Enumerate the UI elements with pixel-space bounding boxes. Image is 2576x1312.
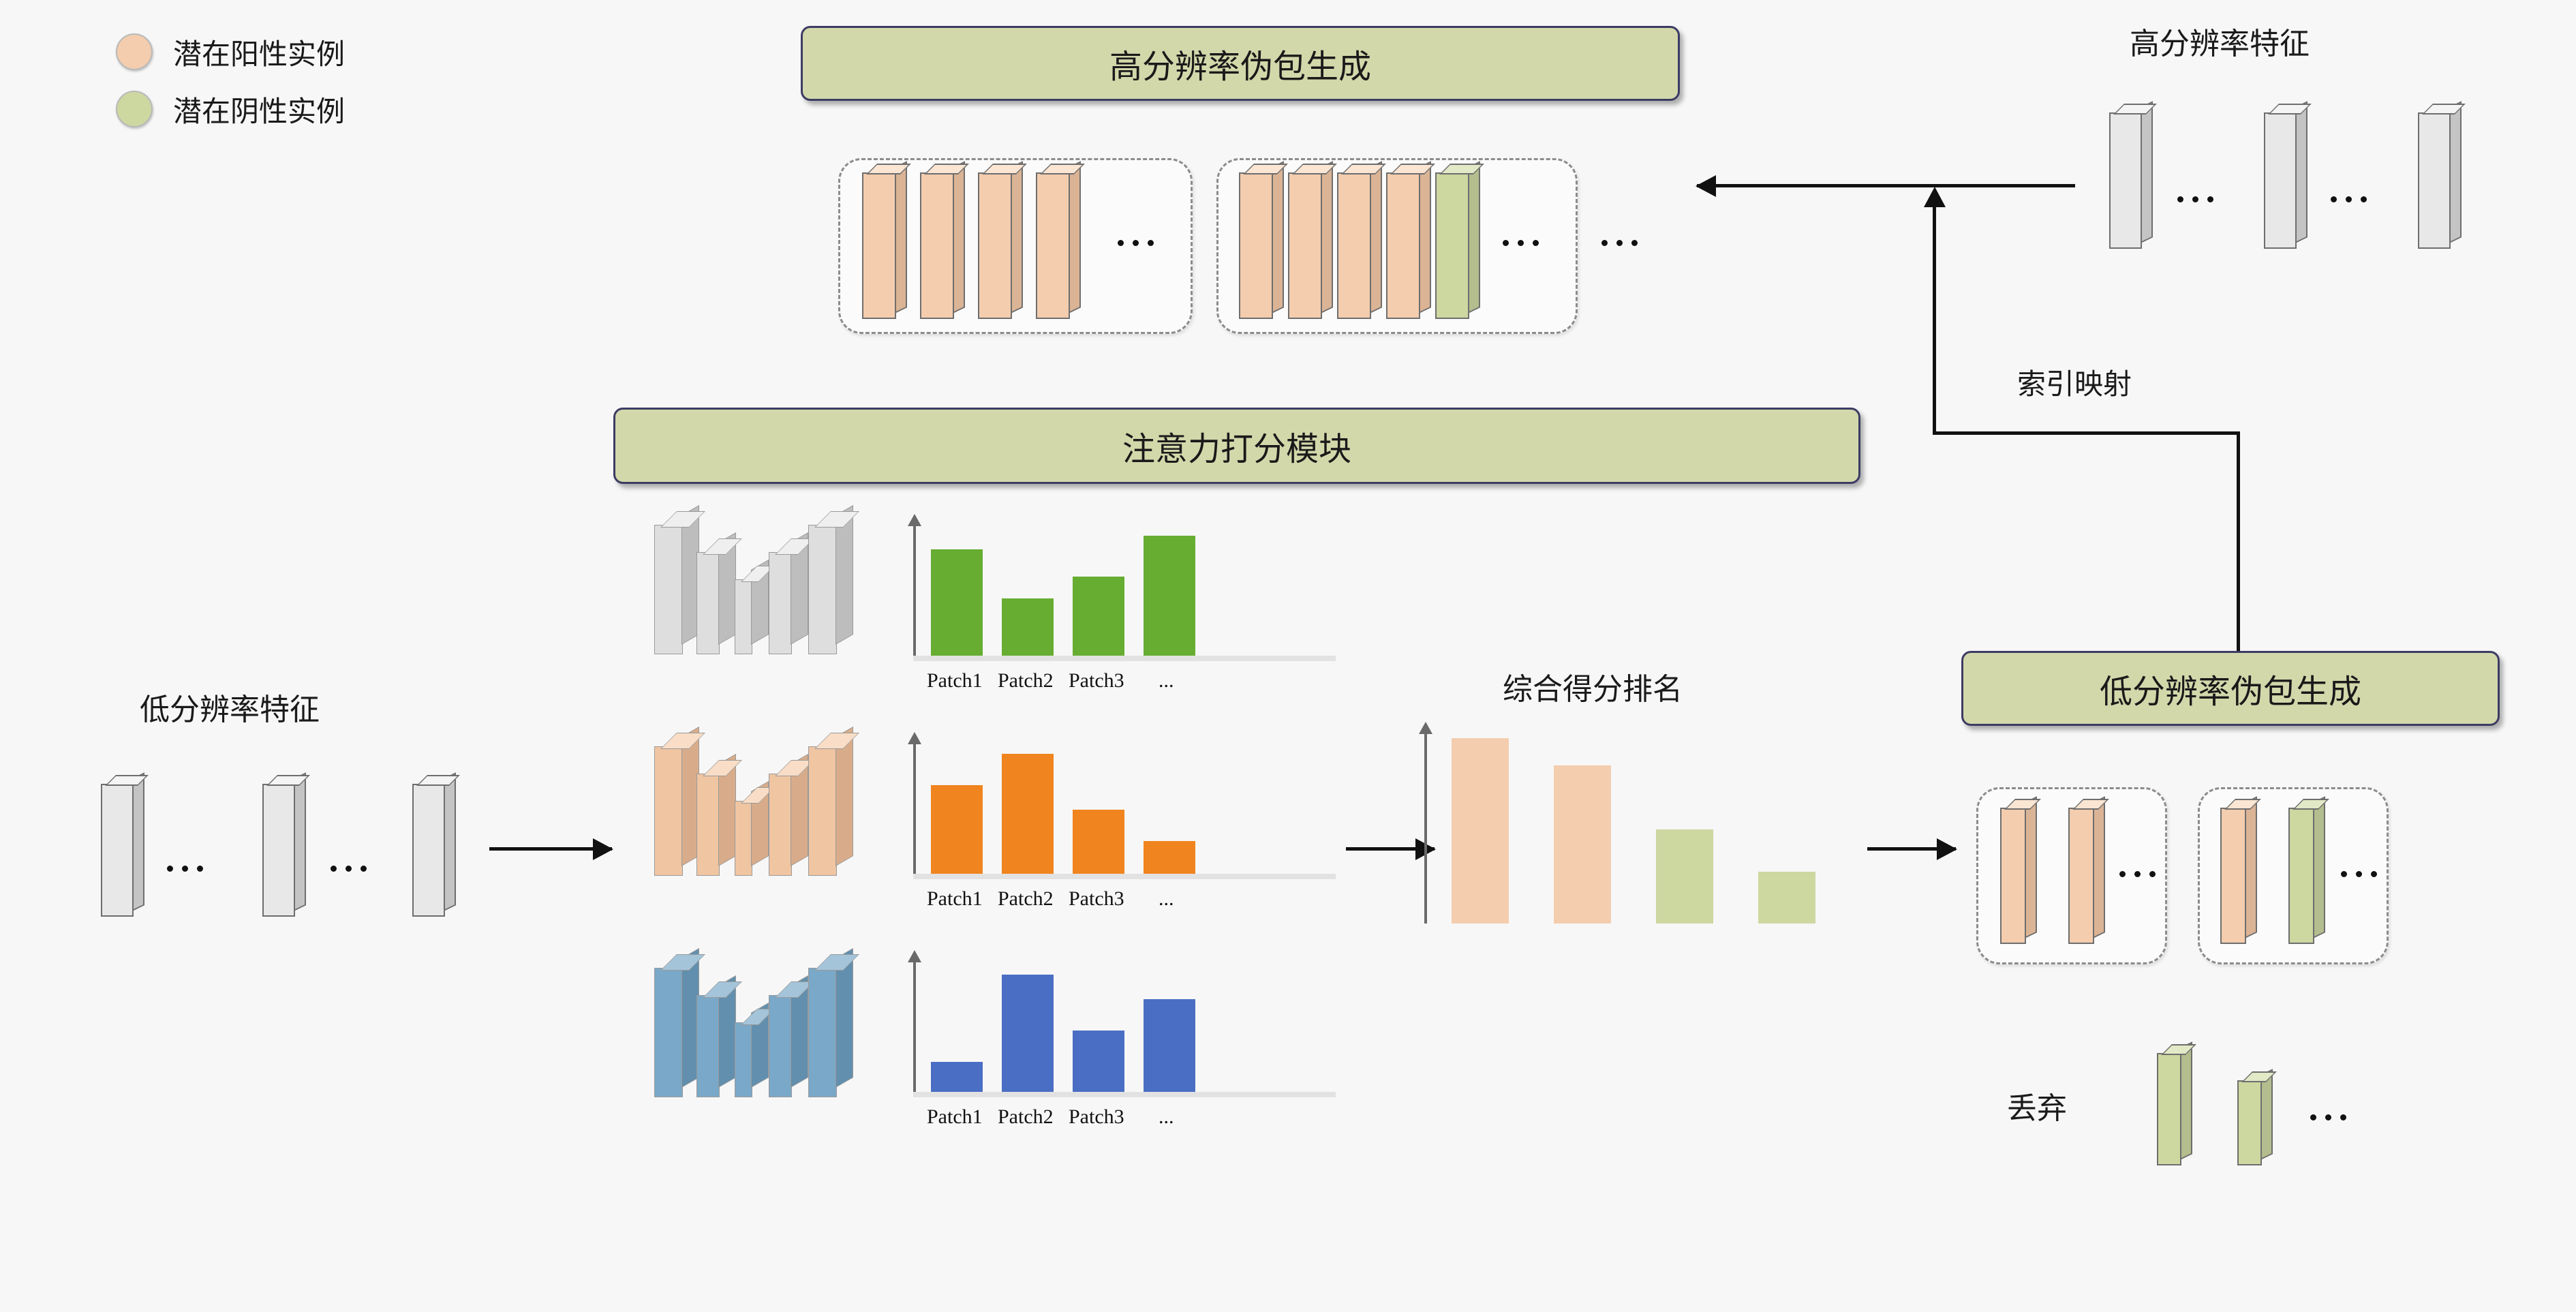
slab-positive <box>2220 808 2246 944</box>
bar-blue-2 <box>1002 975 1054 1092</box>
index-mapping-vertical-segment <box>2237 431 2240 653</box>
bar-blue-1 <box>931 1062 983 1092</box>
high-res-feature-to-bag-arrow <box>1697 184 2075 187</box>
slab-feature <box>412 784 445 917</box>
ellipsis-icon <box>2310 1114 2346 1120</box>
slab-positive <box>920 172 954 319</box>
legend-item-negative: 潜在阴性实例 <box>116 88 345 130</box>
bar-green-2 <box>1002 598 1054 656</box>
y-axis <box>913 961 916 1097</box>
slab-positive <box>1239 172 1273 319</box>
bar-group <box>931 526 1214 656</box>
slab-feature <box>2418 112 2451 249</box>
encoder-decoder-blue <box>654 968 859 1097</box>
x-tick-label: Patch3 <box>1069 887 1139 911</box>
ellipsis-icon <box>2119 871 2156 877</box>
bar-group <box>931 744 1214 874</box>
low-res-feature-label: 低分辨率特征 <box>140 685 320 729</box>
x-axis-baseline <box>913 1092 1336 1097</box>
x-tick-labels: Patch1 Patch2 Patch3 ... <box>927 669 1229 692</box>
slab-positive <box>862 172 896 319</box>
slab-discard-negative <box>2157 1053 2181 1165</box>
y-axis <box>913 525 916 661</box>
low-res-bag-generation-label: 低分辨率伪包生成 <box>2100 665 2361 712</box>
slab-positive <box>1386 172 1420 319</box>
scores-to-ranking-arrow <box>1346 847 1435 851</box>
x-tick-label: Patch2 <box>998 669 1069 692</box>
ellipsis-icon <box>331 866 367 872</box>
y-axis <box>913 743 916 879</box>
bar-green-4 <box>1144 536 1195 656</box>
slab-positive <box>2068 808 2094 944</box>
x-tick-label-ellipsis: ... <box>1139 887 1229 911</box>
attention-chart-green: Patch1 Patch2 Patch3 ... <box>913 525 1336 661</box>
bar-blue-4 <box>1144 999 1195 1092</box>
slab-discard-negative <box>2237 1080 2262 1165</box>
rank-bar-4 <box>1758 872 1815 924</box>
attention-scoring-module-label: 注意力打分模块 <box>1122 422 1351 470</box>
ranking-to-low-res-bag-arrow <box>1867 847 1956 851</box>
ellipsis-icon <box>1118 240 1154 246</box>
ellipsis-icon <box>2177 196 2213 202</box>
low-res-bag-generation-box[interactable]: 低分辨率伪包生成 <box>1961 651 2500 726</box>
bar-group <box>931 962 1214 1092</box>
ellipsis-icon <box>1503 240 1539 246</box>
slab-feature <box>262 784 295 917</box>
index-mapping-up-arrow <box>1933 204 1936 434</box>
high-res-bag-generation-box[interactable]: 高分辨率伪包生成 <box>801 26 1680 101</box>
high-res-bag-generation-label: 高分辨率伪包生成 <box>1109 40 1371 87</box>
attention-chart-orange: Patch1 Patch2 Patch3 ... <box>913 743 1336 879</box>
x-tick-label: Patch3 <box>1069 1105 1139 1129</box>
discard-label: 丢弃 <box>2007 1084 2067 1127</box>
high-res-feature-label: 高分辨率特征 <box>2130 19 2310 63</box>
ellipsis-icon <box>2341 871 2377 877</box>
slab-feature <box>2109 112 2142 249</box>
x-tick-label: Patch2 <box>998 1105 1069 1129</box>
x-tick-label-ellipsis: ... <box>1139 1105 1229 1129</box>
rank-bar-2 <box>1554 765 1611 924</box>
bar-blue-3 <box>1073 1031 1124 1092</box>
attention-chart-blue: Patch1 Patch2 Patch3 ... <box>913 961 1336 1097</box>
slab-feature <box>101 784 134 917</box>
ellipsis-icon <box>167 866 203 872</box>
x-tick-labels: Patch1 Patch2 Patch3 ... <box>927 1105 1229 1129</box>
slab-positive <box>2000 808 2026 944</box>
bar-orange-3 <box>1073 810 1124 874</box>
slab-negative <box>2288 808 2314 944</box>
x-axis-baseline <box>913 874 1336 879</box>
bar-orange-2 <box>1002 754 1054 874</box>
rank-bar-3 <box>1656 829 1713 924</box>
bar-group <box>1452 734 1835 924</box>
index-mapping-label: 索引映射 <box>2017 361 2132 403</box>
legend-item-positive: 潜在阳性实例 <box>116 31 345 73</box>
ellipsis-icon <box>1601 240 1638 246</box>
legend: 潜在阳性实例 潜在阴性实例 <box>116 31 345 145</box>
index-mapping-horizontal-segment <box>1933 431 2239 435</box>
ellipsis-icon <box>2331 196 2367 202</box>
encoder-decoder-peach <box>654 746 859 876</box>
bar-orange-1 <box>931 785 983 874</box>
x-tick-label: Patch3 <box>1069 669 1139 692</box>
x-tick-label-ellipsis: ... <box>1139 669 1229 692</box>
slab-negative <box>1435 172 1469 319</box>
slab-positive <box>1036 172 1070 319</box>
legend-positive-swatch-icon <box>116 33 153 70</box>
slab-positive <box>1288 172 1322 319</box>
x-tick-label: Patch1 <box>927 669 998 692</box>
x-tick-label: Patch1 <box>927 887 998 911</box>
y-axis <box>1424 733 1427 924</box>
score-ranking-title: 综合得分排名 <box>1503 665 1683 708</box>
attention-scoring-module-box[interactable]: 注意力打分模块 <box>613 408 1860 484</box>
bar-green-3 <box>1073 577 1124 656</box>
slab-positive <box>978 172 1012 319</box>
x-axis-baseline <box>913 656 1336 661</box>
x-tick-label: Patch2 <box>998 887 1069 911</box>
slab-feature <box>2264 112 2297 249</box>
slab-positive <box>1337 172 1371 319</box>
legend-negative-label: 潜在阴性实例 <box>173 89 345 130</box>
legend-negative-swatch-icon <box>116 91 153 127</box>
bar-orange-4 <box>1144 841 1195 874</box>
encoder-decoder-gray <box>654 525 859 654</box>
features-to-encoder-arrow <box>489 847 612 851</box>
x-tick-label: Patch1 <box>927 1105 998 1129</box>
x-tick-labels: Patch1 Patch2 Patch3 ... <box>927 887 1229 911</box>
score-ranking-chart <box>1424 733 1847 924</box>
legend-positive-label: 潜在阳性实例 <box>173 31 345 73</box>
bar-green-1 <box>931 549 983 656</box>
rank-bar-1 <box>1452 738 1509 924</box>
